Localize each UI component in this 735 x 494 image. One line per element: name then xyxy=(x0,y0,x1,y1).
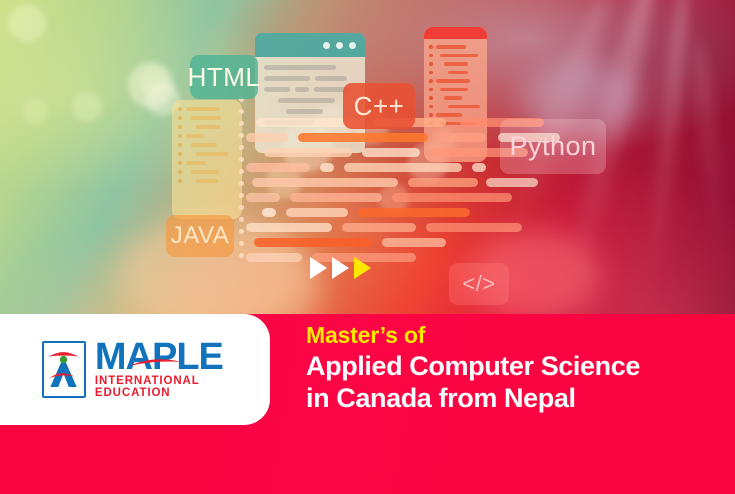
divider-dot-icon xyxy=(239,253,244,258)
python-badge-icon: Python xyxy=(500,119,606,174)
bullet-dot-icon xyxy=(429,113,433,117)
divider-dot-icon xyxy=(239,145,244,150)
logo-tagline: INTERNATIONAL EDUCATION xyxy=(95,376,270,399)
divider-dot-icon xyxy=(239,241,244,246)
divider-dot-icon xyxy=(239,193,244,198)
card-title-bar xyxy=(424,27,487,39)
code-bar xyxy=(252,178,398,187)
browser-title-bar xyxy=(255,33,365,57)
code-bar xyxy=(472,163,486,172)
bullet-dot-icon xyxy=(429,88,433,92)
code-bar xyxy=(246,253,302,262)
code-bar xyxy=(438,133,486,142)
code-line xyxy=(186,107,220,111)
code-line xyxy=(186,161,206,165)
code-line xyxy=(444,62,468,66)
code-line xyxy=(436,79,470,83)
bullet-dot-icon xyxy=(429,62,433,66)
code-bar xyxy=(246,223,332,232)
code-line xyxy=(286,109,323,114)
bullet-dot-icon xyxy=(429,96,433,100)
code-row xyxy=(429,96,482,100)
code-bar xyxy=(290,193,382,202)
code-row xyxy=(429,45,482,49)
code-row xyxy=(429,71,482,75)
bullet-dot-icon xyxy=(178,107,182,111)
code-bar xyxy=(382,238,446,247)
banner: HTML C++ Python JAVA </> xyxy=(0,0,735,494)
code-bar xyxy=(426,223,522,232)
cpp-badge-icon: C++ xyxy=(343,83,415,129)
divider-dot-icon xyxy=(239,169,244,174)
code-line xyxy=(196,152,228,156)
bullet-dot-icon xyxy=(178,161,182,165)
code-row xyxy=(178,152,236,156)
code-line xyxy=(436,113,462,117)
headline-line-1: Master’s of xyxy=(306,322,640,349)
code-row xyxy=(178,179,236,183)
divider-dot-icon xyxy=(239,157,244,162)
java-badge-icon: JAVA xyxy=(166,215,234,257)
code-bar xyxy=(286,208,348,217)
bullet-dot-icon xyxy=(178,152,182,156)
code-list-card-icon xyxy=(172,100,242,219)
bullet-dot-icon xyxy=(178,143,182,147)
logo-card: MAPLE INTERNATIONAL EDUCATION xyxy=(0,314,270,425)
bullet-dot-icon xyxy=(429,54,433,58)
code-row xyxy=(429,113,482,117)
code-line xyxy=(186,134,204,138)
maple-mountain-logo-icon xyxy=(42,341,86,398)
code-line xyxy=(191,170,219,174)
headline-line-2: Applied Computer Science xyxy=(306,351,640,382)
code-bar xyxy=(254,238,372,247)
bullet-dot-icon xyxy=(429,79,433,83)
bullet-dot-icon xyxy=(429,71,433,75)
code-row xyxy=(429,62,482,66)
divider-dot-icon xyxy=(239,217,244,222)
window-dot-icon xyxy=(336,42,343,49)
code-line xyxy=(315,76,347,81)
bullet-dot-icon xyxy=(178,116,182,120)
divider-dot-icon xyxy=(239,205,244,210)
logo: MAPLE INTERNATIONAL EDUCATION xyxy=(42,340,270,400)
code-bar xyxy=(408,178,478,187)
window-dot-icon xyxy=(349,42,356,49)
divider-dot-icon xyxy=(239,109,244,114)
play-triangle-icon xyxy=(332,257,349,279)
code-line xyxy=(436,45,466,49)
logo-text: MAPLE INTERNATIONAL EDUCATION xyxy=(95,340,270,400)
code-row xyxy=(178,161,236,165)
code-line xyxy=(264,76,310,81)
html-badge-icon: HTML xyxy=(190,55,258,99)
bullet-dot-icon xyxy=(429,45,433,49)
code-row xyxy=(264,76,356,81)
play-triangle-icon xyxy=(310,257,327,279)
code-bar xyxy=(362,148,420,157)
play-triangle-icon xyxy=(354,257,371,279)
code-bar xyxy=(320,163,334,172)
code-row xyxy=(178,134,236,138)
code-bar xyxy=(246,163,310,172)
code-line xyxy=(196,125,220,129)
code-bar xyxy=(298,133,428,142)
code-line xyxy=(196,179,218,183)
code-row xyxy=(178,125,236,129)
bullet-dot-icon xyxy=(178,125,182,129)
play-arrows-group xyxy=(310,257,371,279)
divider-dot-icon xyxy=(239,121,244,126)
code-line xyxy=(264,65,336,70)
code-row xyxy=(178,107,236,111)
code-line xyxy=(295,87,309,92)
divider-dot-icon xyxy=(239,229,244,234)
code-bar xyxy=(262,208,276,217)
code-brackets-icon: </> xyxy=(449,263,509,305)
bullet-dot-icon xyxy=(178,170,182,174)
code-bar xyxy=(342,223,416,232)
headline-block: Master’s of Applied Computer Science in … xyxy=(306,322,640,414)
code-line xyxy=(191,116,221,120)
code-line xyxy=(440,54,478,58)
code-line xyxy=(448,105,480,109)
divider-dot-icon xyxy=(239,133,244,138)
code-bar xyxy=(246,133,288,142)
code-bar xyxy=(392,193,512,202)
code-line xyxy=(440,88,468,92)
code-line xyxy=(191,143,217,147)
code-row xyxy=(178,170,236,174)
code-line xyxy=(278,98,335,103)
bullet-dot-icon xyxy=(429,105,433,109)
window-dot-icon xyxy=(323,42,330,49)
code-bar xyxy=(246,193,280,202)
divider-dot-icon xyxy=(239,181,244,186)
dotted-divider-icon xyxy=(239,97,244,258)
code-row xyxy=(178,143,236,147)
bullet-dot-icon xyxy=(178,179,182,183)
bullet-dot-icon xyxy=(178,134,182,138)
code-row xyxy=(429,88,482,92)
logo-wordmark: MAPLE xyxy=(95,340,270,375)
code-line xyxy=(264,87,290,92)
code-bar xyxy=(264,148,352,157)
code-row xyxy=(178,116,236,120)
code-row xyxy=(429,54,482,58)
code-row xyxy=(429,79,482,83)
code-bar xyxy=(344,163,462,172)
code-bar xyxy=(358,208,470,217)
code-line xyxy=(444,96,462,100)
code-bar xyxy=(486,178,538,187)
code-line xyxy=(448,71,468,75)
headline-line-3: in Canada from Nepal xyxy=(306,383,640,414)
code-row xyxy=(429,105,482,109)
logo-name: MAPLE xyxy=(95,336,223,378)
